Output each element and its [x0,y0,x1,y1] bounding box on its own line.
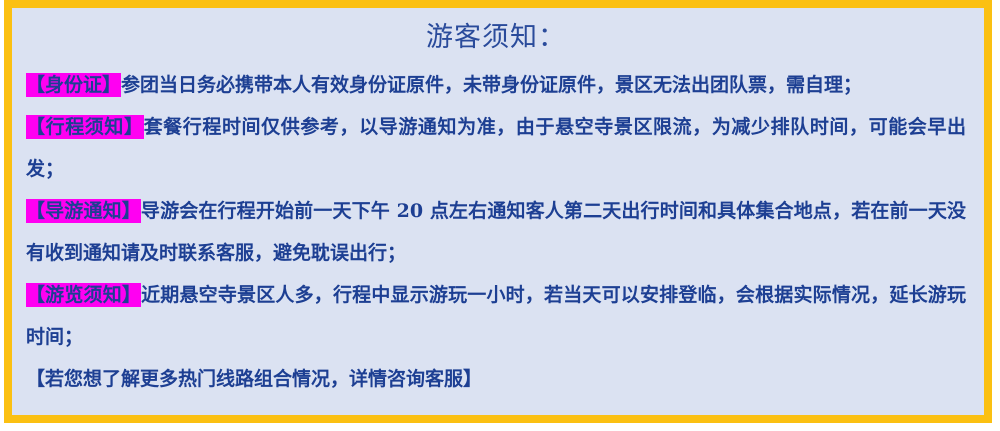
notice-body-id-card: 参团当日务必携带本人有效身份证原件，未带身份证原件，景区无法出团队票，需自理； [121,74,862,96]
notice-body-itinerary: 套餐行程时间仅供参考，以导游通知为准，由于悬空寺景区限流，为减少排队时间，可能会… [26,116,966,180]
notice-paragraph-id-card: 【身份证】参团当日务必携带本人有效身份证原件，未带身份证原件，景区无法出团队票，… [26,64,966,106]
tourist-notice-card: 游客须知： 【身份证】参团当日务必携带本人有效身份证原件，未带身份证原件，景区无… [4,0,992,423]
notice-tag-id-card: 【身份证】 [26,73,121,97]
notice-body-guide-notice: 导游会在行程开始前一天下午 20 点左右通知客人第二天出行时间和具体集合地点，若… [26,200,966,264]
notice-body-contact-service: 【若您想了解更多热门线路组合情况，详情咨询客服】 [26,368,482,390]
notice-tag-guide-notice: 【导游通知】 [26,199,141,223]
notice-paragraph-guide-notice: 【导游通知】导游会在行程开始前一天下午 20 点左右通知客人第二天出行时间和具体… [26,190,966,274]
notice-tag-itinerary: 【行程须知】 [26,115,144,139]
notice-tag-sightseeing: 【游览须知】 [26,283,141,307]
page-title: 游客须知： [26,18,966,58]
notice-body-sightseeing: 近期悬空寺景区人多，行程中显示游玩一小时，若当天可以安排登临，会根据实际情况，延… [26,284,966,348]
notice-paragraph-contact-service: 【若您想了解更多热门线路组合情况，详情咨询客服】 [26,358,966,400]
notice-paragraph-sightseeing: 【游览须知】近期悬空寺景区人多，行程中显示游玩一小时，若当天可以安排登临，会根据… [26,274,966,358]
notice-paragraph-itinerary: 【行程须知】套餐行程时间仅供参考，以导游通知为准，由于悬空寺景区限流，为减少排队… [26,106,966,190]
notice-content-area: 游客须知： 【身份证】参团当日务必携带本人有效身份证原件，未带身份证原件，景区无… [12,8,984,415]
